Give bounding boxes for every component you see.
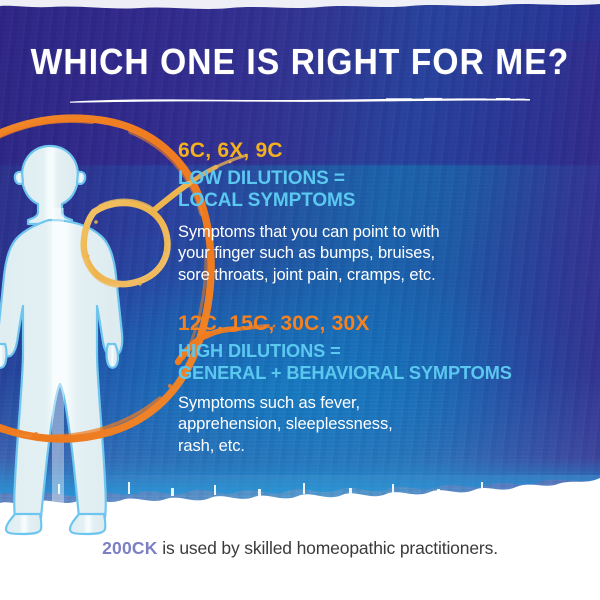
body-low-line3: sore throats, joint pain, cramps, etc. <box>178 266 436 284</box>
subhead-low: LOW DILUTIONS = LOCAL SYMPTOMS <box>178 168 582 213</box>
body-high-line3: rash, etc. <box>178 437 245 455</box>
footer-caption: 200CK is used by skilled homeopathic pra… <box>0 538 600 559</box>
top-brush-edge <box>0 0 600 15</box>
page-title: WHICH ONE IS RIGHT FOR ME? <box>21 44 579 80</box>
section-high-dilutions: 12C, 15C, 30C, 30X HIGH DILUTIONS = GENE… <box>178 313 582 457</box>
subhead-high: HIGH DILUTIONS = GENERAL + BEHAVIORAL SY… <box>178 341 582 384</box>
footer-accent-label: 200CK <box>102 538 157 558</box>
title-underline-brush <box>68 96 534 105</box>
body-high-line1: Symptoms such as fever, <box>178 394 360 412</box>
body-low: Symptoms that you can point to with your… <box>178 222 582 286</box>
footer-rest-label: is used by skilled homeopathic practitio… <box>158 538 498 558</box>
human-figure <box>0 138 184 538</box>
subhead-high-line2: GENERAL + BEHAVIORAL SYMPTOMS <box>178 363 512 383</box>
subhead-low-line1: LOW DILUTIONS = <box>178 168 345 189</box>
infographic-poster: WHICH ONE IS RIGHT FOR ME? 6C, 6X, 9C LO… <box>0 0 600 600</box>
potency-label-low: 6C, 6X, 9C <box>178 140 582 162</box>
body-low-line2: your finger such as bumps, bruises, <box>178 244 435 262</box>
body-high: Symptoms such as fever, apprehension, sl… <box>178 393 582 457</box>
potency-label-high: 12C, 15C, 30C, 30X <box>178 313 582 335</box>
subhead-low-line2: LOCAL SYMPTOMS <box>178 190 355 211</box>
subhead-high-line1: HIGH DILUTIONS = <box>178 341 341 361</box>
body-high-line2: apprehension, sleeplessness, <box>178 415 393 433</box>
section-low-dilutions: 6C, 6X, 9C LOW DILUTIONS = LOCAL SYMPTOM… <box>178 140 582 286</box>
body-low-line1: Symptoms that you can point to with <box>178 223 440 241</box>
human-silhouette-icon <box>0 138 184 538</box>
